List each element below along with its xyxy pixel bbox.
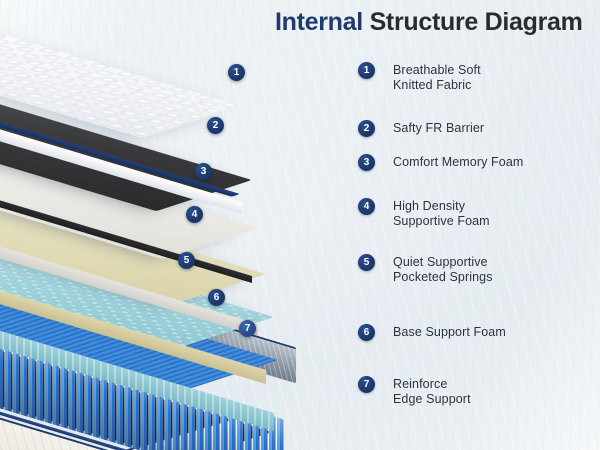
legend-label-5: Quiet Supportive Pocketed Springs xyxy=(393,255,493,285)
legend-item-4[interactable]: 4 High Density Supportive Foam xyxy=(358,198,490,229)
diagram-badge-2[interactable]: 2 xyxy=(207,117,224,134)
legend-label-3: Comfort Memory Foam xyxy=(393,155,523,170)
legend-label-7: Reinforce Edge Support xyxy=(393,377,471,407)
legend-item-3[interactable]: 3 Comfort Memory Foam xyxy=(358,154,523,171)
legend-badge-1: 1 xyxy=(358,62,375,79)
diagram-badge-6[interactable]: 6 xyxy=(208,289,225,306)
diagram-badge-4[interactable]: 4 xyxy=(186,206,203,223)
legend-item-7[interactable]: 7 Reinforce Edge Support xyxy=(358,376,471,407)
legend-label-6: Base Support Foam xyxy=(393,325,506,340)
legend-badge-5: 5 xyxy=(358,254,375,271)
diagram-badge-3[interactable]: 3 xyxy=(195,163,212,180)
diagram-badge-1[interactable]: 1 xyxy=(228,64,245,81)
legend-label-4: High Density Supportive Foam xyxy=(393,199,490,229)
page-title-accent: Internal xyxy=(275,8,363,36)
page-title-main: Structure Diagram xyxy=(370,8,583,36)
legend-label-1: Breathable Soft Knitted Fabric xyxy=(393,63,481,93)
legend-badge-6: 6 xyxy=(358,324,375,341)
mattress-exploded-view xyxy=(0,12,342,450)
legend-label-2: Safty FR Barrier xyxy=(393,121,484,136)
diagram-badge-5[interactable]: 5 xyxy=(178,252,195,269)
legend-item-5[interactable]: 5 Quiet Supportive Pocketed Springs xyxy=(358,254,493,285)
legend-item-6[interactable]: 6 Base Support Foam xyxy=(358,324,506,341)
legend-badge-7: 7 xyxy=(358,376,375,393)
diagram-badge-7[interactable]: 7 xyxy=(239,320,256,337)
legend-badge-2: 2 xyxy=(358,120,375,137)
legend-badge-3: 3 xyxy=(358,154,375,171)
legend-badge-4: 4 xyxy=(358,198,375,215)
legend-item-1[interactable]: 1 Breathable Soft Knitted Fabric xyxy=(358,62,481,93)
page-title: Internal Structure Diagram xyxy=(275,8,595,37)
legend-item-2[interactable]: 2 Safty FR Barrier xyxy=(358,120,484,137)
diagram-canvas: 1 2 3 4 5 6 7 Internal Structure Diagram… xyxy=(0,0,600,450)
